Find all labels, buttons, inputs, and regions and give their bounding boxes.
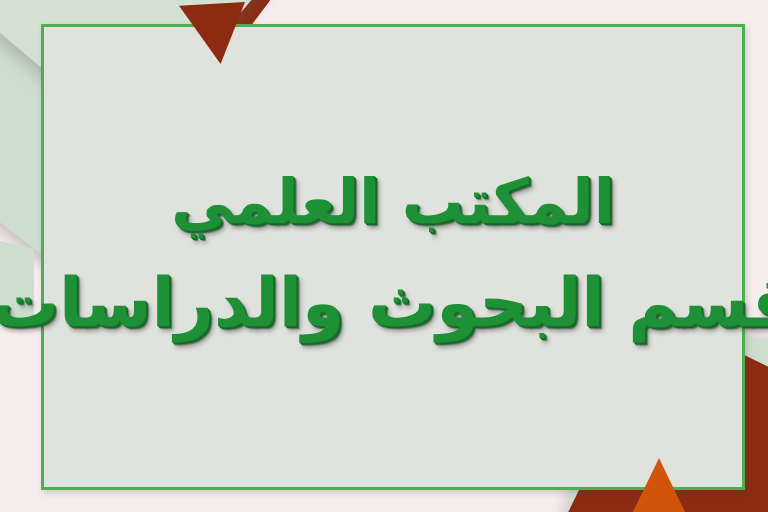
presentation-slide: المكتب العلمي قسم البحوث والدراسات [0, 0, 768, 512]
slide-title-primary: المكتب العلمي [171, 169, 615, 234]
title-block: المكتب العلمي قسم البحوث والدراسات [41, 24, 745, 490]
slide-title-secondary: قسم البحوث والدراسات [0, 268, 768, 339]
